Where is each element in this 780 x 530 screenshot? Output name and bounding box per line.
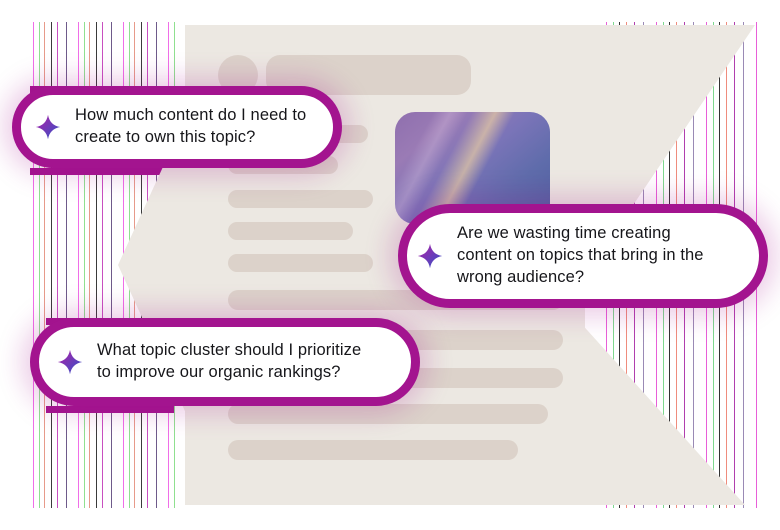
content-line-3 bbox=[228, 190, 373, 208]
prompt-pill-content-volume[interactable]: How much content do I need to create to … bbox=[12, 86, 342, 168]
sparkle-icon bbox=[35, 114, 61, 140]
prompt-pill-topic-cluster[interactable]: What topic cluster should I prioritize t… bbox=[30, 318, 420, 406]
glitch-band-middle bbox=[30, 168, 170, 175]
content-line-4 bbox=[228, 222, 353, 240]
prompt-pill-wrong-audience[interactable]: Are we wasting time creating content on … bbox=[398, 204, 768, 308]
scene-root: How much content do I need to create to … bbox=[0, 0, 780, 530]
glitch-band-lowest bbox=[46, 406, 174, 413]
sparkle-icon bbox=[417, 243, 443, 269]
prompt-pill-label: What topic cluster should I prioritize t… bbox=[97, 340, 361, 384]
document-chevron-right-bottom bbox=[560, 300, 745, 505]
sparkle-icon bbox=[57, 349, 83, 375]
prompt-pill-label: Are we wasting time creating content on … bbox=[457, 223, 704, 288]
prompt-pill-label: How much content do I need to create to … bbox=[75, 105, 306, 149]
content-line-10 bbox=[228, 440, 518, 460]
content-line-9 bbox=[228, 404, 548, 424]
content-line-5 bbox=[228, 254, 373, 272]
